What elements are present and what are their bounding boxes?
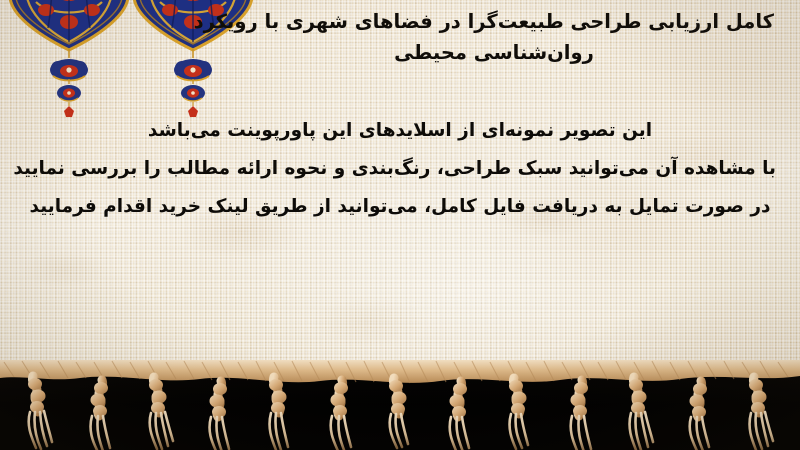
persian-medallion-pendant-icon-left [8, 0, 130, 119]
slide-title-line-2: روان‌شناسی محیطی [214, 37, 774, 68]
carpet-fringe [0, 360, 800, 450]
slide-body-line-3: در صورت تمایل به دریافت فایل کامل، می‌تو… [24, 188, 776, 226]
slide-title-line-1: کامل ارزیابی طراحی طبیعت‌گرا در فضاهای ش… [214, 6, 774, 37]
slide-title: کامل ارزیابی طراحی طبیعت‌گرا در فضاهای ش… [214, 6, 774, 68]
slide-body-line-2: با مشاهده آن می‌توانید سبک طراحی، رنگ‌بن… [24, 150, 776, 188]
slide-canvas: کامل ارزیابی طراحی طبیعت‌گرا در فضاهای ش… [0, 0, 800, 450]
slide-body-text: این تصویر نمونه‌ای از اسلایدهای این پاور… [24, 112, 776, 226]
slide-body-line-1: این تصویر نمونه‌ای از اسلایدهای این پاور… [24, 112, 776, 150]
